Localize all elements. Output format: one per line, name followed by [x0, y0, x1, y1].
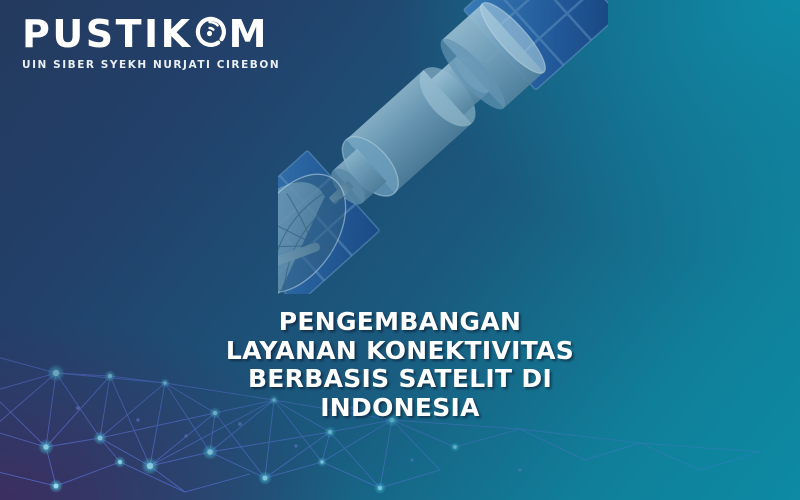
title-line: BERBASIS SATELIT DI [90, 365, 710, 394]
logo-word-before: PUSTIK [22, 14, 193, 54]
promo-banner: PUSTIK M UIN SIBER SYEKH NURJATI CIREBON… [0, 0, 800, 500]
title-line: INDONESIA [90, 394, 710, 423]
logo-tagline: UIN SIBER SYEKH NURJATI CIREBON [22, 59, 252, 71]
wifi-signal-circle-icon [194, 15, 228, 54]
page-title: PENGEMBANGAN LAYANAN KONEKTIVITAS BERBAS… [0, 308, 800, 422]
satellite-illustration [278, 0, 608, 294]
pustikom-logo[interactable]: PUSTIK M UIN SIBER SYEKH NURJATI CIREBON [22, 14, 252, 71]
title-line: PENGEMBANGAN [90, 308, 710, 337]
title-line: LAYANAN KONEKTIVITAS [90, 337, 710, 366]
logo-word-after: M [229, 14, 269, 54]
logo-wordmark: PUSTIK M [22, 14, 252, 54]
